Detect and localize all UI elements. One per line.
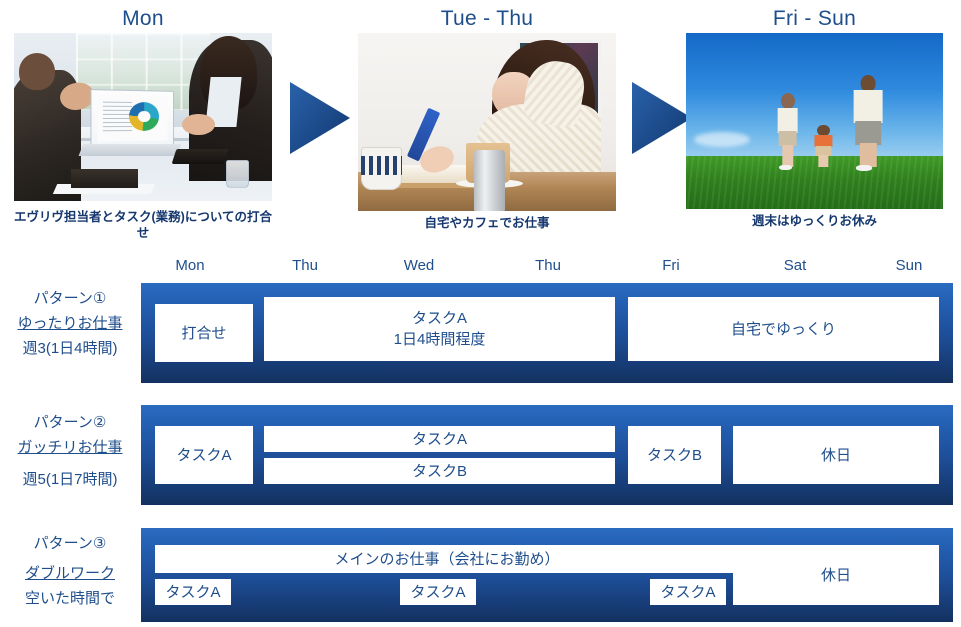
cell-text: タスクA: [660, 582, 715, 603]
day-header-mon: Mon: [150, 255, 230, 277]
schedule-cell-3-5[interactable]: 休日: [733, 545, 939, 605]
cell-text: 打合せ: [181, 323, 226, 344]
pattern-row-1: パターン① ゆったりお仕事 週3(1日4時間) 打合せ タスクA 1日4時間程度…: [0, 283, 961, 383]
cell-text-line2: 1日4時間程度: [394, 329, 486, 350]
flow-step-title-mon: Mon: [14, 6, 272, 32]
pattern-label-1-line1: パターン①: [0, 286, 140, 311]
schedule-cell-3-2[interactable]: タスクA: [155, 579, 231, 605]
cell-text-line1: タスクA: [412, 308, 467, 329]
pattern-label-2-line1: パターン②: [0, 410, 140, 435]
cell-text: タスクA: [410, 582, 465, 603]
flow-step-title-fri-sun: Fri - Sun: [686, 6, 943, 32]
cell-text: タスクA: [176, 445, 231, 466]
cell-text: 自宅でゆっくり: [731, 319, 836, 340]
flow-step-mon: Mon: [14, 6, 272, 232]
pattern-row-2: パターン② ガッチリお仕事 週5(1日7時間) タスクA タスクA タスクB タ…: [0, 405, 961, 505]
schedule-cell-2-2[interactable]: タスクA: [264, 426, 615, 452]
schedule-cell-3-4[interactable]: タスクA: [650, 579, 726, 605]
pattern-label-2-line3: 週5(1日7時間): [0, 467, 140, 492]
flow-step-caption-fri-sun: 週末はゆっくりお休み: [686, 213, 943, 229]
schedule-cell-3-1[interactable]: メインのお仕事（会社にお勤め）: [155, 545, 739, 573]
schedule-cell-2-1[interactable]: タスクA: [155, 426, 253, 484]
cell-text: メインのお仕事（会社にお勤め）: [334, 549, 559, 570]
flow-step-caption-tue-thu: 自宅やカフェでお仕事: [358, 215, 616, 231]
schedule-cell-2-5[interactable]: 休日: [733, 426, 939, 484]
day-header-sat: Sat: [755, 255, 835, 277]
schedule-cell-1-2[interactable]: タスクA 1日4時間程度: [264, 297, 615, 361]
pattern-label-1: パターン① ゆったりお仕事 週3(1日4時間): [0, 286, 140, 361]
pattern-row-3: パターン③ ダブルワーク 空いた時間で メインのお仕事（会社にお勤め） タスクA…: [0, 528, 961, 622]
schedule-cell-2-4[interactable]: タスクB: [628, 426, 721, 484]
process-flow-strip: Mon: [0, 0, 961, 232]
pattern-label-3-line1: パターン③: [0, 531, 140, 556]
day-header-sun: Sun: [869, 255, 949, 277]
pattern-label-2: パターン② ガッチリお仕事 週5(1日7時間): [0, 410, 140, 492]
cell-text: 休日: [821, 565, 851, 586]
pattern-track-1: 打合せ タスクA 1日4時間程度 自宅でゆっくり: [141, 283, 953, 383]
pattern-label-1-line3: 週3(1日4時間): [0, 336, 140, 361]
flow-step-title-tue-thu: Tue - Thu: [358, 6, 616, 32]
meeting-photo: [14, 33, 272, 201]
schedule-cell-3-3[interactable]: タスクA: [400, 579, 476, 605]
day-header-thu: Thu: [508, 255, 588, 277]
flow-step-caption-mon: エヴリヴ担当者とタスク(業務)についての打合せ: [14, 209, 272, 241]
cell-text: タスクB: [647, 445, 702, 466]
schedule-cell-1-3[interactable]: 自宅でゆっくり: [628, 297, 939, 361]
pattern-label-2-line2: ガッチリお仕事: [0, 435, 140, 460]
cell-text: タスクB: [412, 461, 467, 482]
cell-text: タスクA: [165, 582, 220, 603]
cell-text: タスクA: [412, 429, 467, 450]
flow-step-tue-thu: Tue - Thu 自宅やカフェでお仕事: [358, 6, 616, 232]
cell-text: 休日: [821, 445, 851, 466]
schedule-cell-1-1[interactable]: 打合せ: [155, 304, 253, 362]
schedule-cell-2-3[interactable]: タスクB: [264, 458, 615, 484]
pattern-label-3-line2: ダブルワーク: [0, 561, 140, 586]
pattern-track-2: タスクA タスクA タスクB タスクB 休日: [141, 405, 953, 505]
pattern-label-1-line2: ゆったりお仕事: [0, 311, 140, 336]
pattern-track-3: メインのお仕事（会社にお勤め） タスクA タスクA タスクA 休日: [141, 528, 953, 622]
day-header-fri: Fri: [631, 255, 711, 277]
day-header-row: Mon Thu Wed Thu Fri Sat Sun: [0, 255, 961, 279]
day-header-wed: Wed: [379, 255, 459, 277]
day-header-tue: Thu: [265, 255, 345, 277]
pattern-label-3: パターン③ ダブルワーク 空いた時間で: [0, 531, 140, 611]
pattern-label-3-line3: 空いた時間で: [0, 586, 140, 611]
family-park-photo: [686, 33, 943, 209]
cafe-working-photo: [358, 33, 616, 211]
flow-step-fri-sun: Fri - Sun: [686, 6, 943, 232]
